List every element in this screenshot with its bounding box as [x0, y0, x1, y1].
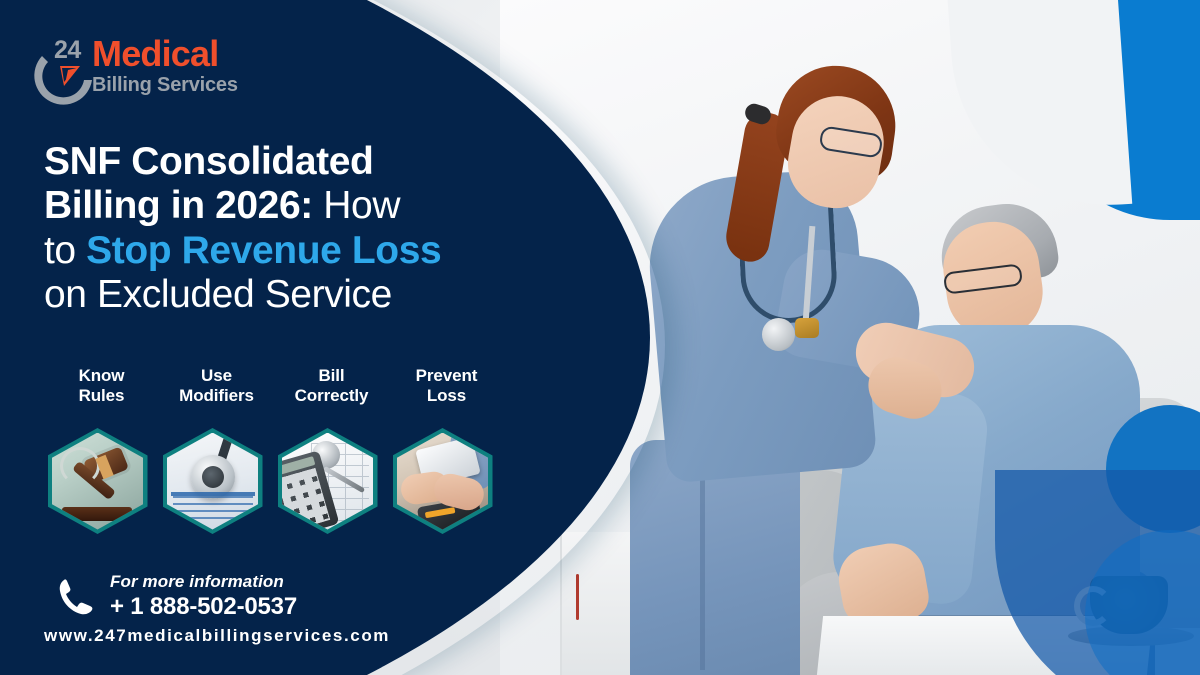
headline-line1: SNF Consolidated	[44, 140, 373, 183]
logo-name-primary: Medical	[92, 36, 238, 72]
badge-clip	[795, 318, 819, 338]
feature-icons	[40, 428, 540, 534]
logo-badge-24: 24	[54, 36, 81, 65]
contact-prompt: For more information	[110, 572, 297, 592]
headline-line3-light: to	[44, 229, 86, 272]
headline-accent: Stop Revenue Loss	[86, 229, 441, 272]
gavel-hexagon-icon	[48, 428, 148, 534]
hex-wrap-1	[40, 428, 155, 534]
headline-line2-light: How	[313, 184, 400, 227]
headline-line4: on Excluded Service	[44, 273, 392, 316]
content-column: 24 Medical Billing Services SNF Consolid…	[0, 0, 640, 675]
hex-wrap-2	[155, 428, 270, 534]
hex-wrap-3	[270, 428, 385, 534]
logo-wordmark: Medical Billing Services	[92, 36, 238, 97]
feature-labels: Know Rules Use Modifiers Bill Correctly …	[44, 366, 544, 406]
hex-wrap-4	[385, 428, 500, 534]
stethoscope-hexagon-icon	[163, 428, 263, 534]
calculator-hexagon-icon	[278, 428, 378, 534]
marketing-banner: 24 Medical Billing Services SNF Consolid…	[0, 0, 1200, 675]
headline-line2-bold: Billing in 2026:	[44, 184, 313, 227]
page-title: SNF Consolidated Billing in 2026: How to…	[44, 140, 544, 318]
feature-label: Know Rules	[44, 366, 159, 406]
stethoscope-bell	[762, 318, 795, 351]
feature-label: Bill Correctly	[274, 366, 389, 406]
feature-item-know-rules: Know Rules	[44, 366, 159, 406]
phone-icon	[58, 577, 94, 617]
brand-logo[interactable]: 24 Medical Billing Services	[34, 34, 264, 112]
contact-text: For more information + 1 888-502-0537	[110, 572, 297, 621]
feature-item-bill-correctly: Bill Correctly	[274, 366, 389, 406]
contact-phone[interactable]: + 1 888-502-0537	[110, 593, 297, 621]
logo-name-secondary: Billing Services	[92, 74, 238, 97]
feature-label: Prevent Loss	[389, 366, 504, 406]
feature-item-use-modifiers: Use Modifiers	[159, 366, 274, 406]
contact-block[interactable]: For more information + 1 888-502-0537	[58, 572, 297, 621]
feature-label: Use Modifiers	[159, 366, 274, 406]
feature-item-prevent-loss: Prevent Loss	[389, 366, 504, 406]
website-url[interactable]: www.247medicalbillingservices.com	[44, 626, 390, 646]
card-reader-hexagon-icon	[393, 428, 493, 534]
